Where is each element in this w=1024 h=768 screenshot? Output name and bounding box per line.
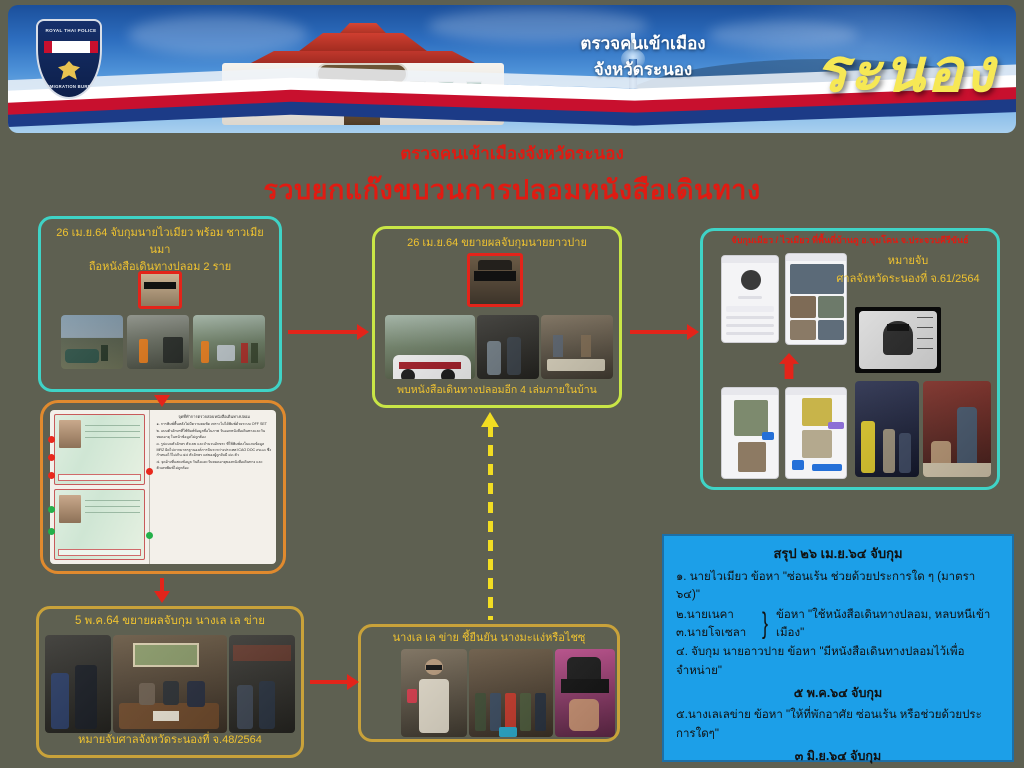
panel-bottom-mid-header: นางเล เล ข่าย ชี้ยืนยัน นางมะแง่หรือไชซุ [361,627,617,649]
photo-woman-portrait-redacted [555,649,615,737]
panel-top-mid-footer: พบหนังสือเดินทางปลอมอีก 4 เล่มภายในบ้าน [375,378,619,403]
panel-top-mid-header: 26 เม.ย.64 ขยายผลจับกุมนายยาวปาย [375,229,619,254]
panel-passport-analysis: จุดที่ทำการตรวจสอบหนังสือเดินทางปลอม ๑. … [40,400,286,574]
garuda-icon [58,61,80,85]
analysis-point: ๓. รูปแบบตัวอักษร ตัวเลข และจำนวนอักขระ … [156,442,272,458]
passport-data-page-2 [54,489,145,560]
photo-officers-standing-indoor [229,635,295,733]
brace-icon: } [762,612,768,636]
banner-subtitle: ตรวจคนเข้าเมือง จังหวัดระนอง [528,31,758,82]
summary-item-4: ๔. จับกุม นายอาวปาย ข้อหา "มีหนังสือเดิน… [676,643,1000,680]
analysis-point: ๑. การพิมพ์พื้นหลังไม่มีความคมชัด เพราะไ… [156,422,272,427]
summary-item-5: ๕.นางเลเลข่าย ข้อหา "ให้ที่พักอาศัย ซ่อน… [676,706,1000,743]
photo-phone-contact-screen [721,255,779,343]
analysis-point: ๔. จุดอ้างที่แสดงข้อมูล วันถือและวันหมดอ… [156,460,272,471]
panel-top-mid: 26 เม.ย.64 ขยายผลจับกุมนายยาวปาย พบหนังส… [372,226,622,408]
photo-night-arrest-scene [855,381,919,477]
summary-date-2: ๕ พ.ค.๖๔ จับกุม [676,683,1000,703]
page-subtitle: ตรวจคนเข้าเมืองจังหวัดระนอง [0,140,1024,167]
emblem-top-text: ROYAL THAI POLICE [38,28,102,33]
summary-item-1: ๑. นายไวเมียว ข้อหา "ซ่อนเร้น ช่วยด้วยปร… [676,568,1000,605]
passport-analysis-card: จุดที่ทำการตรวจสอบหนังสือเดินทางปลอม ๑. … [50,410,276,564]
summary-date-3: ๓ มิ.ย.๖๔ จับกุม [676,746,1000,766]
photo-evidence-table-indoor [541,315,613,379]
arrow-bottomleft-to-bottommid [310,680,348,684]
header-banner: ROYAL THAI POLICE IMMIGRATION BUREAU ตรว… [8,5,1016,133]
photo-officers-raid-entry [45,635,111,733]
mugshot-suspect-redacted [467,253,523,307]
photo-phone-profile-photos-1 [721,387,779,479]
banner-subtitle-line2: จังหวัดระนอง [528,57,758,83]
summary-item-2: ๒.นายเนคา [676,606,754,624]
panel-bottom-left: 5 พ.ค.64 ขยายผลจับกุม นางเล เล ข่าย หมาย… [36,606,304,758]
photo-police-car-scene [385,315,475,379]
summary-title: สรุป ๒๖ เม.ย.๖๔ จับกุม [676,544,1000,565]
photo-arrest-in-crowd [477,315,539,379]
warrant-label-block: หมายจับ ศาลจังหวัดระนองที่ จ.61/2564 [833,253,983,288]
photo-suspects-lineup-with-officers [469,649,553,737]
arrow-topleft-to-topmid [288,330,358,334]
photo-arrest-roadside-vehicle [61,315,123,369]
emblem-bottom-text: IMMIGRATION BUREAU [38,84,102,89]
banner-wordmark: ระนอง [815,23,996,118]
marker-dot-red [48,472,55,479]
photo-woman-pointing-phone [401,649,467,737]
marker-dot-green [48,528,55,535]
summary-group-charge: ข้อหา "ใช้หนังสือเดินทางปลอม, หลบหนีเข้า… [776,606,1000,643]
summary-group-2-3: ๒.นายเนคา ๓.นายโจเซลา } ข้อหา "ใช้หนังสื… [676,606,1000,643]
mugshot-suspect-redacted [138,271,182,309]
photo-suspect-seated-interview [923,381,991,477]
summary-group-names: ๒.นายเนคา ๓.นายโจเซลา [676,606,754,643]
panel-top-right-header: จับกุมเมียว / ไวเมียว ที่พื้นที่บ้านดู อ… [703,231,997,250]
marker-dot-red [48,436,55,443]
panel-top-left-header: 26 เม.ย.64 จับกุมนายไวเมียว พร้อม ชาวเมี… [41,219,279,278]
photo-mugshot-board-bw [855,307,941,373]
passport-images-column [50,410,149,564]
summary-box: สรุป ๒๖ เม.ย.๖๔ จับกุม ๑. นายไวเมียว ข้อ… [662,534,1014,762]
photo-suspects-lineup-roadside [193,315,265,369]
contact-avatar-icon [741,270,761,290]
warrant-label: หมายจับ [833,253,983,271]
photo-phone-profile-photos-2 [785,387,847,479]
marker-dot-red [48,454,55,461]
photo-interrogation-table-room [113,635,227,733]
marker-dot-green [48,506,55,513]
passport-data-page-1 [54,414,145,485]
panel-bottom-mid: นางเล เล ข่าย ชี้ยืนยัน นางมะแง่หรือไชซุ [358,624,620,742]
banner-subtitle-line1: ตรวจคนเข้าเมือง [528,31,758,57]
page-title: รวบยกแก๊งขบวนการปลอมหนังสือเดินทาง [0,168,1024,211]
passport-analysis-text: จุดที่ทำการตรวจสอบหนังสือเดินทางปลอม ๑. … [149,410,276,564]
royal-thai-police-emblem-icon: ROYAL THAI POLICE IMMIGRATION BUREAU [36,19,102,99]
infographic-page: ROYAL THAI POLICE IMMIGRATION BUREAU ตรว… [0,0,1024,768]
panel-top-right: จับกุมเมียว / ไวเมียว ที่พื้นที่บ้านดู อ… [700,228,1000,490]
panel-bottom-left-footer: หมายจับศาลจังหวัดระนองที่ จ.48/2564 [39,727,301,753]
analysis-title: จุดที่ทำการตรวจสอบหนังสือเดินทางปลอม [156,414,272,420]
panel-top-left-header-line1: 26 เม.ย.64 จับกุมนายไวเมียว พร้อม ชาวเมี… [49,225,271,259]
arrow-bottommid-to-topmid-dashed [488,414,493,620]
panel-top-left: 26 เม.ย.64 จับกุมนายไวเมียว พร้อม ชาวเมี… [38,216,282,392]
arrow-topmid-to-topright [630,330,688,334]
arrow-doc-to-bottomleft [160,578,164,592]
analysis-point: ๒. แบบตัวอักษรที่ใช้พิมพ์ข้อมูลชื่อในภาพ… [156,429,272,440]
arrow-up-red [779,353,799,379]
photo-officers-checking-van [127,315,189,369]
summary-item-3: ๓.นายโจเซลา [676,624,754,642]
panel-bottom-left-header: 5 พ.ค.64 ขยายผลจับกุม นางเล เล ข่าย [39,609,301,633]
warrant-number: ศาลจังหวัดระนองที่ จ.61/2564 [833,271,983,289]
